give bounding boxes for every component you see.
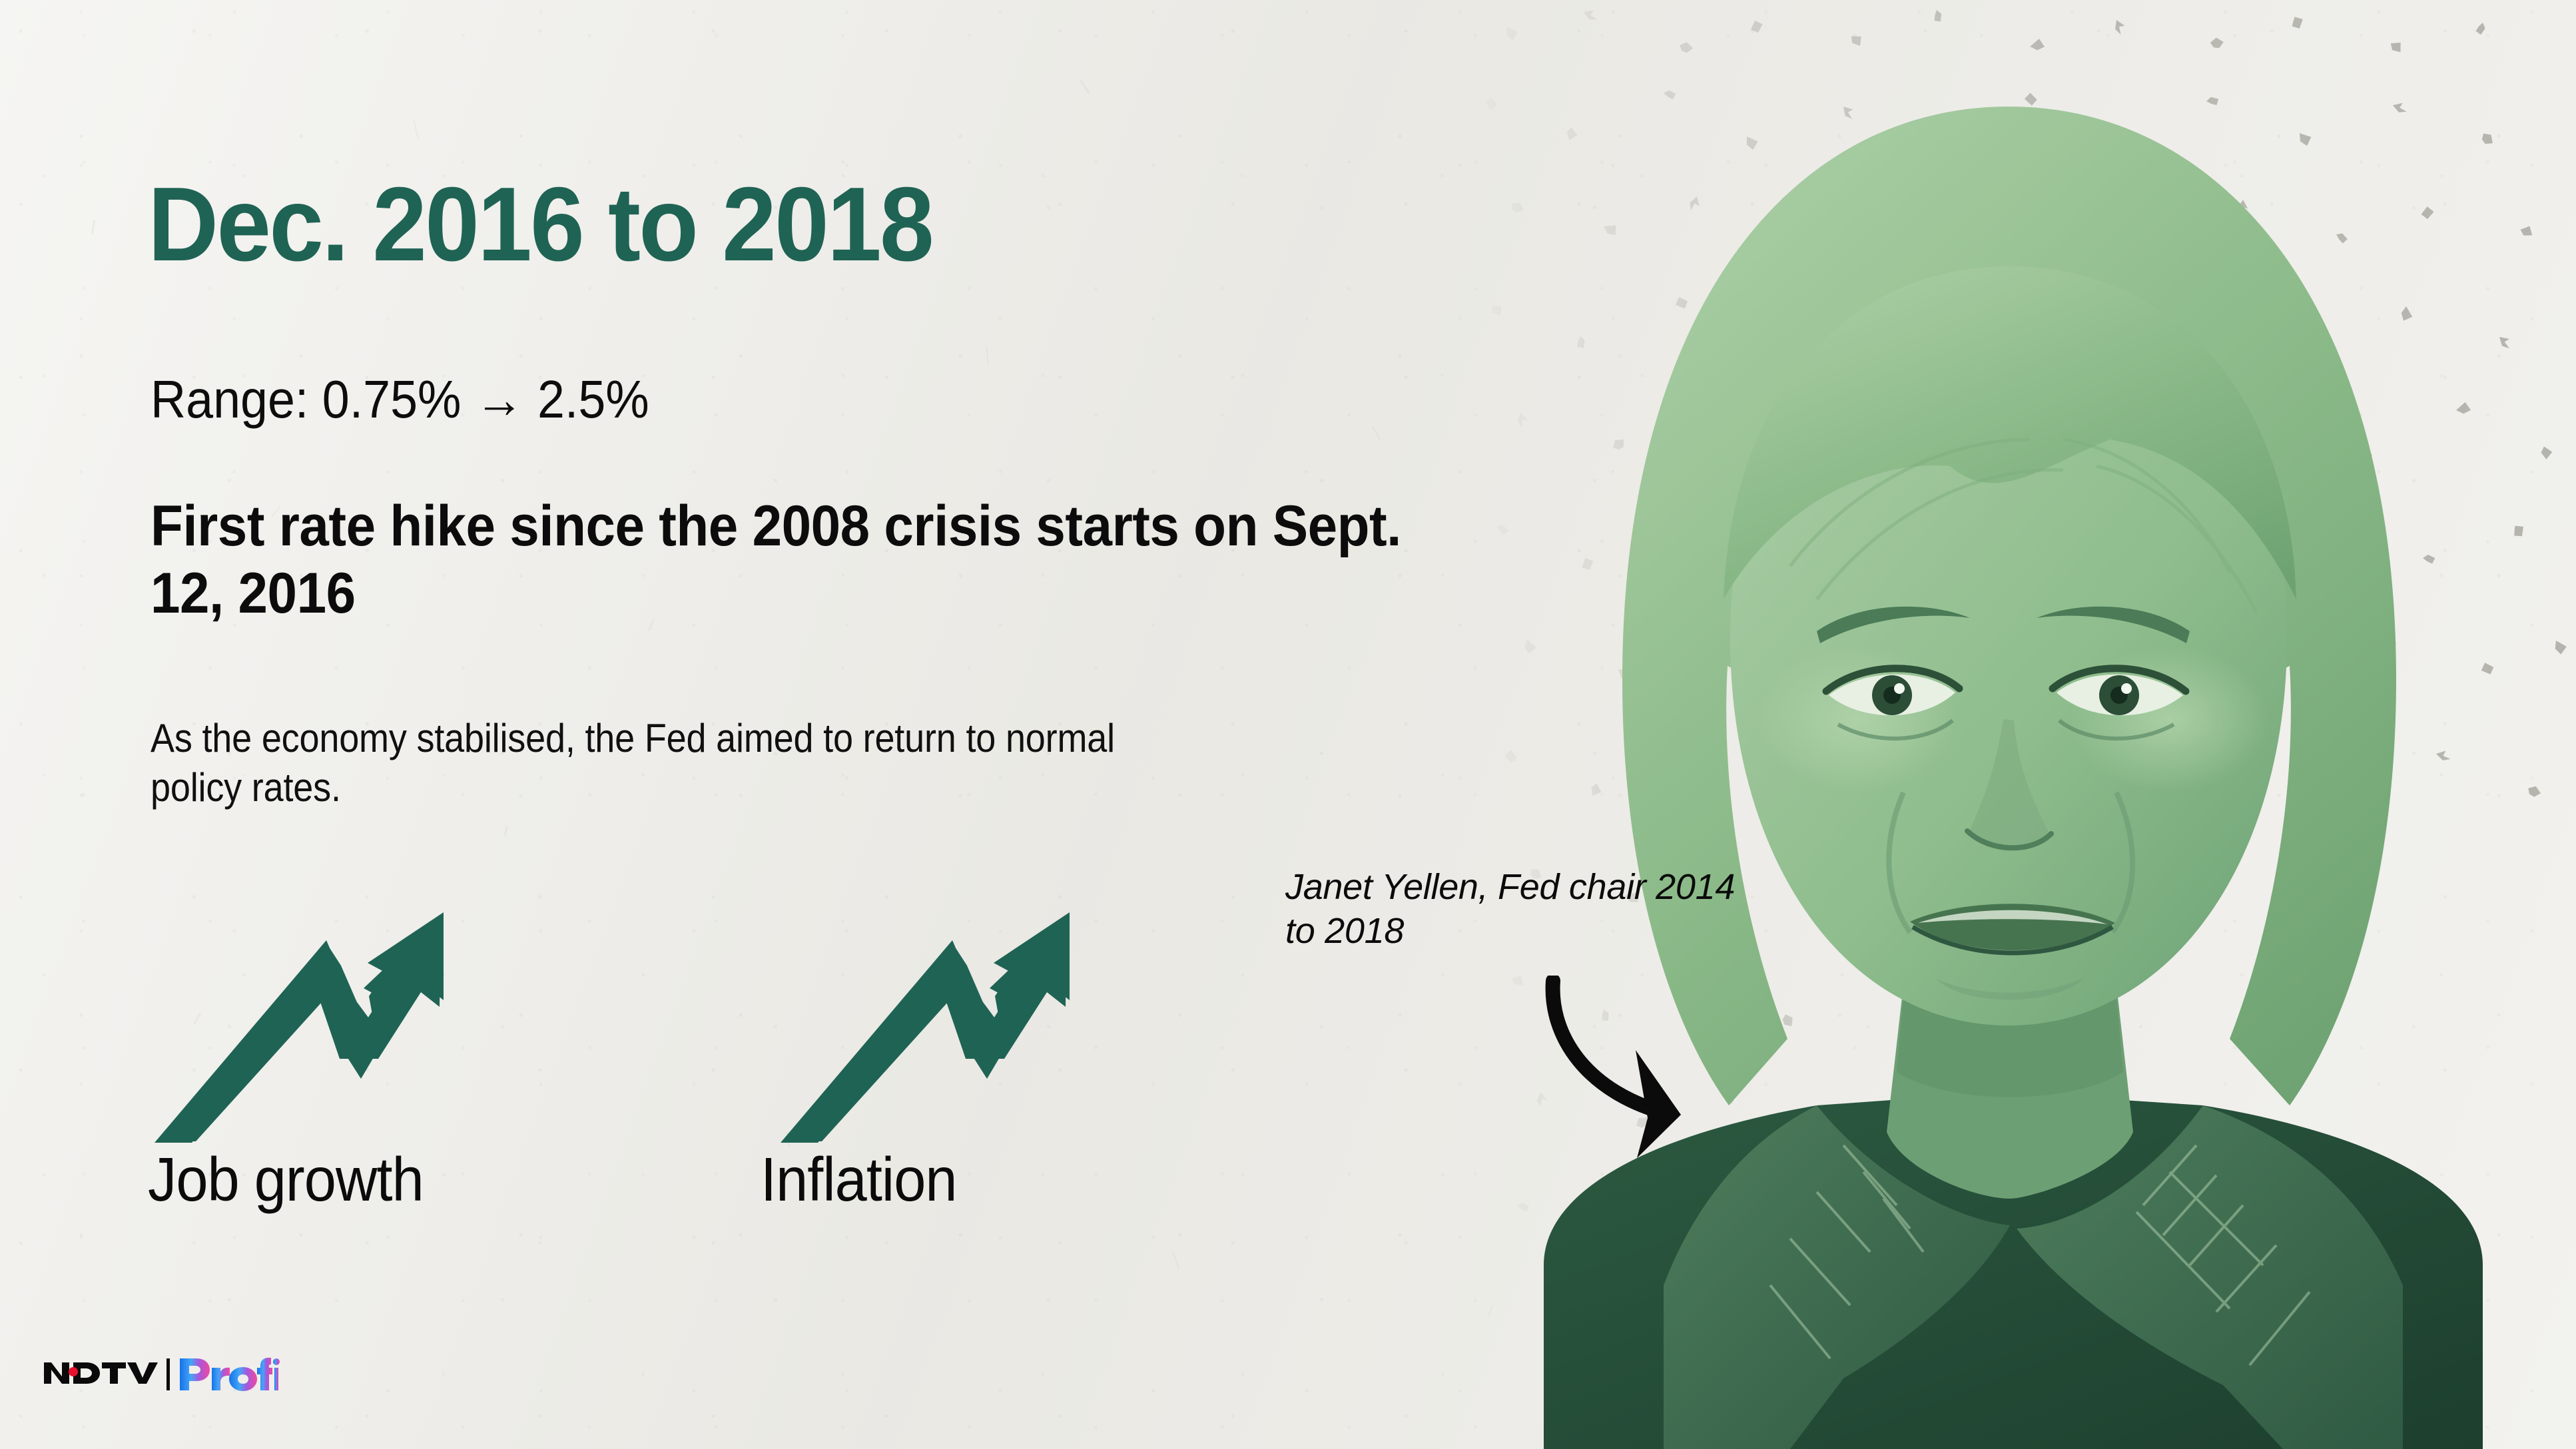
metrics-group: Job growth Inflation <box>148 859 1080 1272</box>
profit-wordmark <box>180 1358 280 1391</box>
up-trend-arrow-icon <box>148 859 494 1145</box>
rate-range-label: Range: 0.75% → 2.5% <box>151 373 649 426</box>
logo-divider <box>166 1358 170 1390</box>
metric-label-inflation: Inflation <box>761 1149 957 1211</box>
janet-yellen-portrait-photo <box>1444 0 2576 1449</box>
curved-arrow-icon <box>1538 976 1825 1162</box>
metric-label-job-growth: Job growth <box>148 1149 424 1211</box>
page-title: Dec. 2016 to 2018 <box>148 172 932 277</box>
portrait-panel <box>1444 0 2576 1449</box>
body-paragraph: As the economy stabilised, the Fed aimed… <box>151 714 1169 812</box>
ndtv-red-dot-icon <box>69 1367 78 1376</box>
up-trend-arrow-icon <box>774 859 1120 1145</box>
metric-inflation: Inflation <box>761 859 1133 1272</box>
ndtv-wordmark <box>44 1362 158 1384</box>
portrait-caption: Janet Yellen, Fed chair 2014 to 2018 <box>1285 866 1738 954</box>
ndtv-profit-logo <box>40 1349 280 1401</box>
infographic-canvas: Dec. 2016 to 2018 Range: 0.75% → 2.5% Fi… <box>0 0 2576 1449</box>
subheadline: First rate hike since the 2008 crisis st… <box>151 493 1482 627</box>
metric-job-growth: Job growth <box>148 859 521 1272</box>
left-content-column: Dec. 2016 to 2018 Range: 0.75% → 2.5% Fi… <box>148 0 1546 1449</box>
